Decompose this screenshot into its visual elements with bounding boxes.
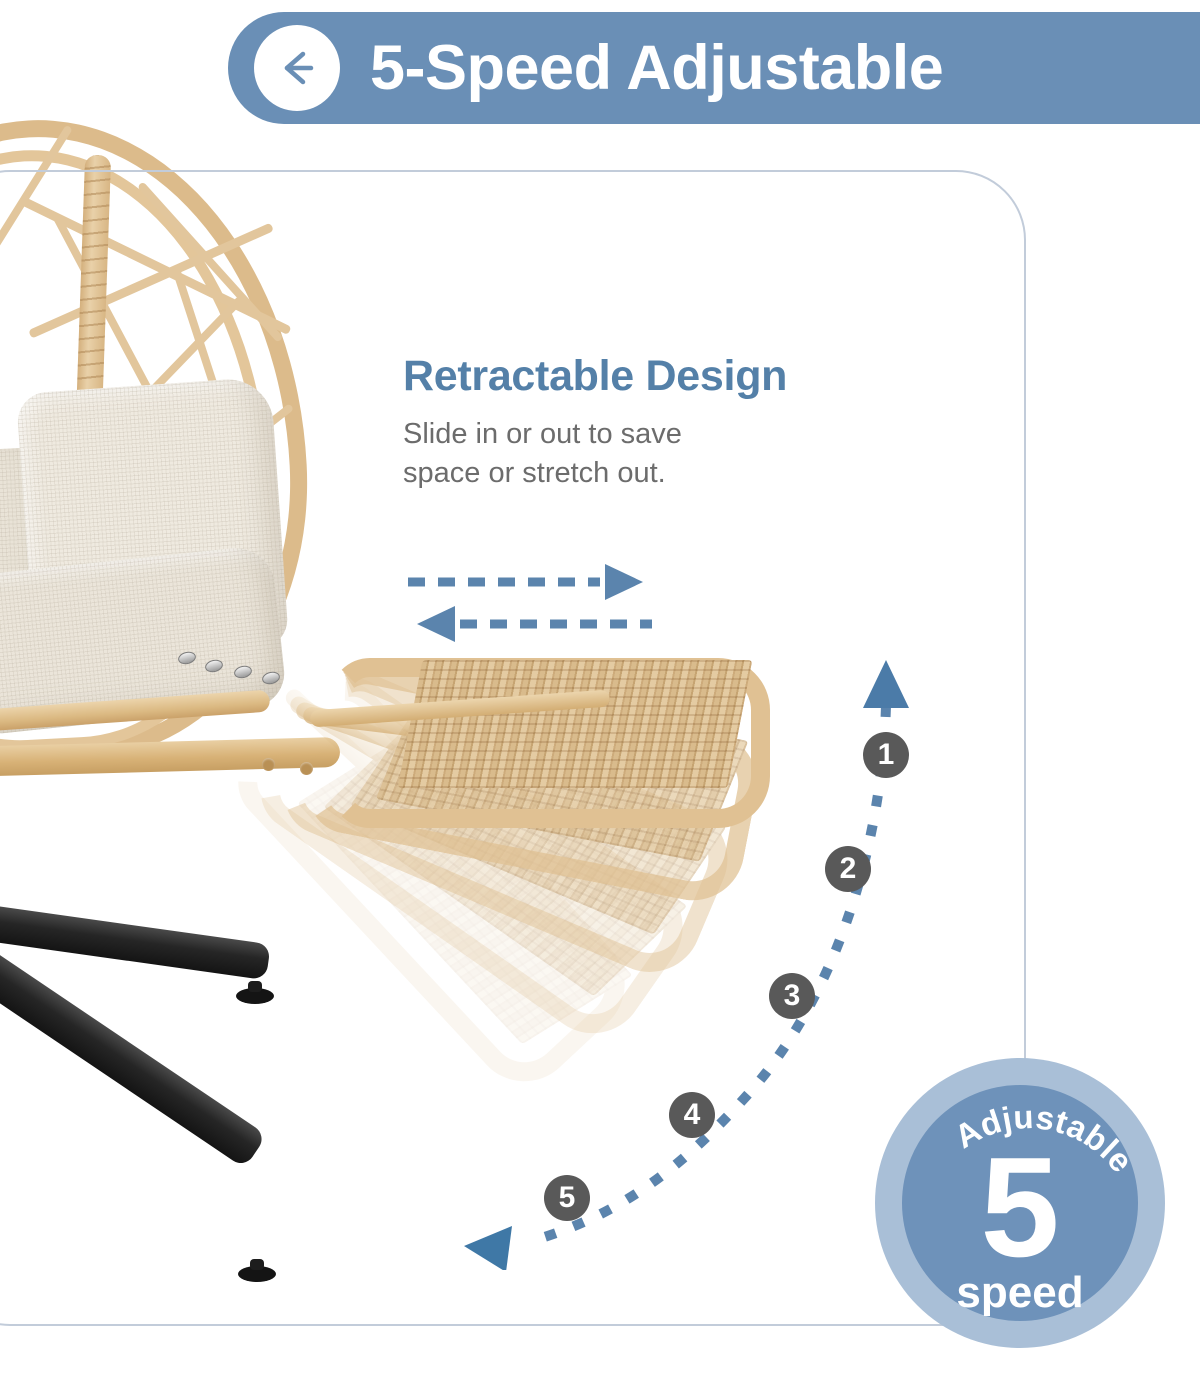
position-marker-1-label: 1	[878, 740, 895, 770]
slide-out-arrow	[408, 564, 643, 600]
stand-foot-upper	[236, 988, 274, 1004]
feature-text-block: Retractable Design Slide in or out to sa…	[403, 352, 787, 492]
stand-leg-upper	[0, 896, 271, 980]
adjustable-speed-badge: 5 speed Adjustable	[875, 1058, 1165, 1348]
position-marker-4-label: 4	[684, 1100, 701, 1130]
arrow-left-icon[interactable]	[254, 25, 340, 111]
position-marker-2-label: 2	[840, 854, 857, 884]
speed-position-arc: 1 2 3 4 5	[420, 630, 950, 1270]
position-marker-5: 5	[544, 1175, 590, 1221]
banner-title: 5-Speed Adjustable	[370, 32, 943, 104]
position-marker-4: 4	[669, 1092, 715, 1138]
svg-text:Adjustable: Adjustable	[948, 1098, 1141, 1179]
header-banner: 5-Speed Adjustable	[228, 12, 1200, 124]
feature-description-line-1: Slide in or out to save	[403, 415, 787, 454]
position-marker-5-label: 5	[559, 1183, 576, 1213]
feature-description-line-2: space or stretch out.	[403, 454, 787, 493]
stand-foot-lower	[238, 1266, 276, 1282]
arc-arrowhead-top	[863, 660, 909, 708]
position-marker-1: 1	[863, 732, 909, 778]
arc-dotted-path	[528, 706, 886, 1242]
position-marker-3-label: 3	[784, 981, 801, 1011]
badge-arc-label: Adjustable	[948, 1098, 1141, 1179]
feature-heading: Retractable Design	[403, 352, 787, 401]
arc-arrowhead-bottom	[464, 1226, 512, 1270]
position-marker-2: 2	[825, 846, 871, 892]
position-marker-3: 3	[769, 973, 815, 1019]
badge-arc-text: Adjustable	[875, 1058, 1165, 1348]
feature-description: Slide in or out to save space or stretch…	[403, 415, 787, 492]
